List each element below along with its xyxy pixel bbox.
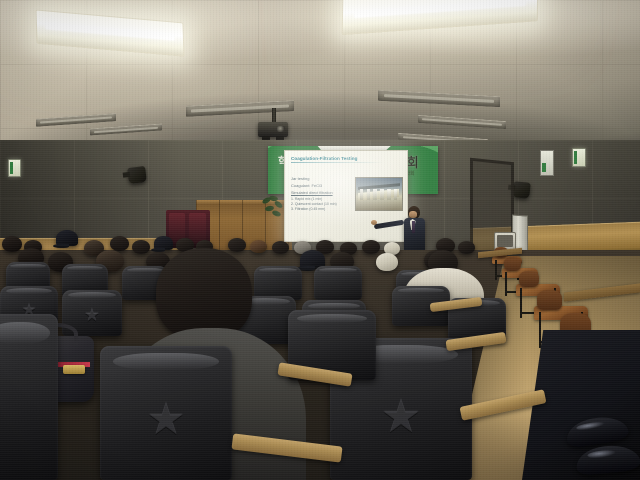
- audience-head: [272, 241, 289, 254]
- audience-head: [376, 253, 398, 271]
- presenter-hand: [371, 220, 377, 225]
- auditorium-seat: [314, 266, 362, 300]
- wall-notice-panel: [540, 150, 554, 176]
- auditorium-seat-foreground: ★: [100, 346, 232, 480]
- wall-speaker-left: [127, 166, 147, 184]
- projection-screen: Coagulation-Filtration Testing Jar testi…: [284, 150, 408, 242]
- exit-sign-left: [8, 159, 21, 177]
- auditorium-seat: [254, 266, 302, 300]
- wall-speaker-right: [512, 181, 531, 199]
- audience-head: [154, 236, 173, 250]
- seat-star-emblem: ★: [146, 398, 185, 442]
- presentation-slide: Coagulation-Filtration Testing Jar testi…: [285, 151, 407, 241]
- audience-head: [132, 240, 150, 254]
- audience-head-foreground: [156, 248, 252, 340]
- audience-head: [362, 240, 380, 254]
- exit-sign-right: [572, 148, 586, 167]
- potted-plant: [262, 196, 284, 222]
- auditorium-seat-foreground: [0, 314, 58, 480]
- projector-lens: [277, 126, 285, 132]
- lecture-hall-photo: 학 술대회 한국수자원학회 Coagulation-Fil: [0, 0, 640, 480]
- slide-title: Coagulation-Filtration Testing: [291, 156, 402, 161]
- handbag-clasp: [63, 365, 85, 374]
- audience-head: [110, 236, 129, 251]
- audience-head: [228, 238, 246, 252]
- seat-star-emblem: ★: [84, 306, 100, 324]
- seat-star-emblem: ★: [380, 393, 421, 439]
- ceiling-projector: [258, 122, 288, 137]
- audience-head: [458, 241, 475, 254]
- slide-title-rule: [291, 162, 384, 163]
- audience-head: [2, 236, 22, 252]
- audience-head: [250, 240, 267, 253]
- audience-head: [56, 230, 78, 246]
